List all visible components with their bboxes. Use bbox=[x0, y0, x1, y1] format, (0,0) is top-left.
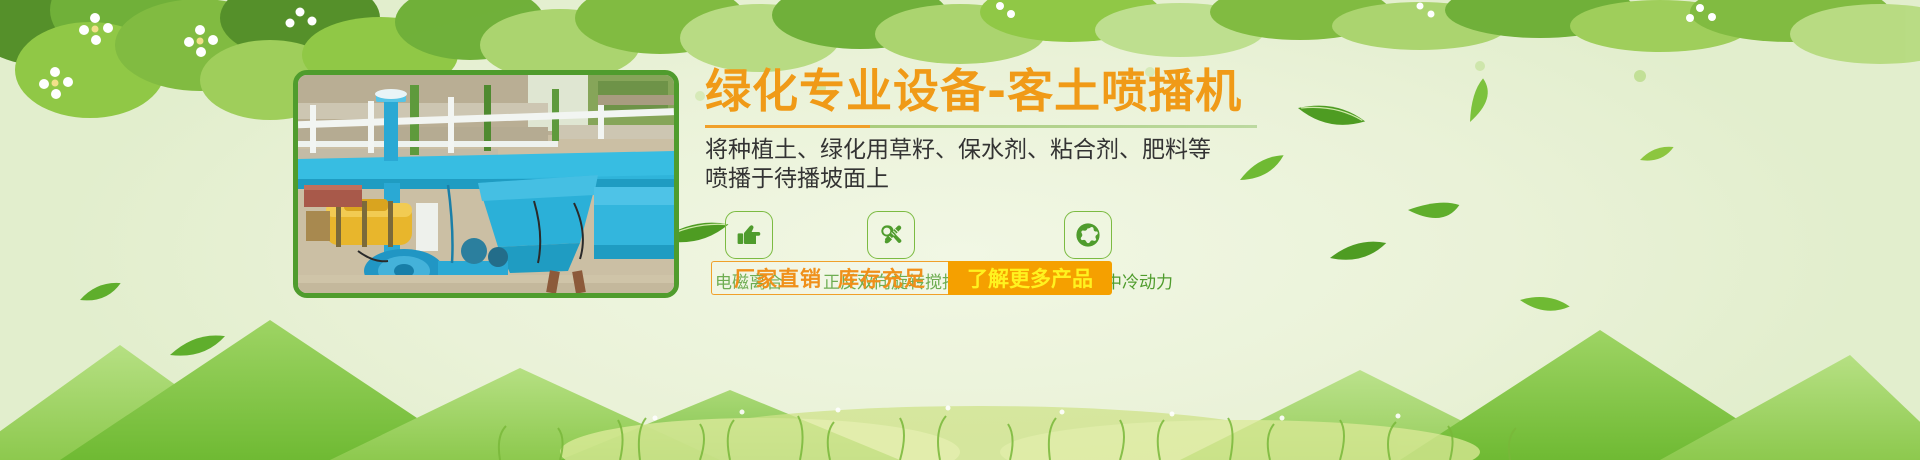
turbo-engine-icon bbox=[1064, 211, 1112, 259]
subtitle-line-1: 将种植土、绿化用草籽、保水剂、粘合剂、肥料等 bbox=[705, 136, 1405, 166]
cta-slogan-text-1: 厂家直销 bbox=[734, 263, 822, 293]
grass-decoration bbox=[0, 340, 1920, 460]
subtitle-line-2: 喷播于待播坡面上 bbox=[705, 165, 1405, 195]
banner-subtitle: 将种植土、绿化用草籽、保水剂、粘合剂、肥料等 喷播于待播坡面上 bbox=[705, 136, 1405, 196]
product-photo-image bbox=[298, 75, 674, 293]
banner-content: 绿化专业设备-客土喷播机 将种植土、绿化用草籽、保水剂、粘合剂、肥料等 喷播于待… bbox=[705, 66, 1405, 293]
cta-bar: 厂家直销 库存充足 了解更多产品 bbox=[711, 261, 1112, 295]
learn-more-button[interactable]: 了解更多产品 bbox=[948, 261, 1112, 295]
promo-banner: 绿化专业设备-客土喷播机 将种植土、绿化用草籽、保水剂、粘合剂、肥料等 喷播于待… bbox=[0, 0, 1920, 460]
product-photo bbox=[293, 70, 679, 298]
title-divider bbox=[705, 125, 1257, 128]
cta-slogan: 厂家直销 库存充足 bbox=[711, 261, 948, 295]
page-title: 绿化专业设备-客土喷播机 bbox=[705, 66, 1405, 118]
cta-slogan-text-2: 库存充足 bbox=[838, 263, 926, 293]
thumbs-up-icon bbox=[725, 211, 773, 259]
wrench-screwdriver-icon bbox=[867, 211, 915, 259]
